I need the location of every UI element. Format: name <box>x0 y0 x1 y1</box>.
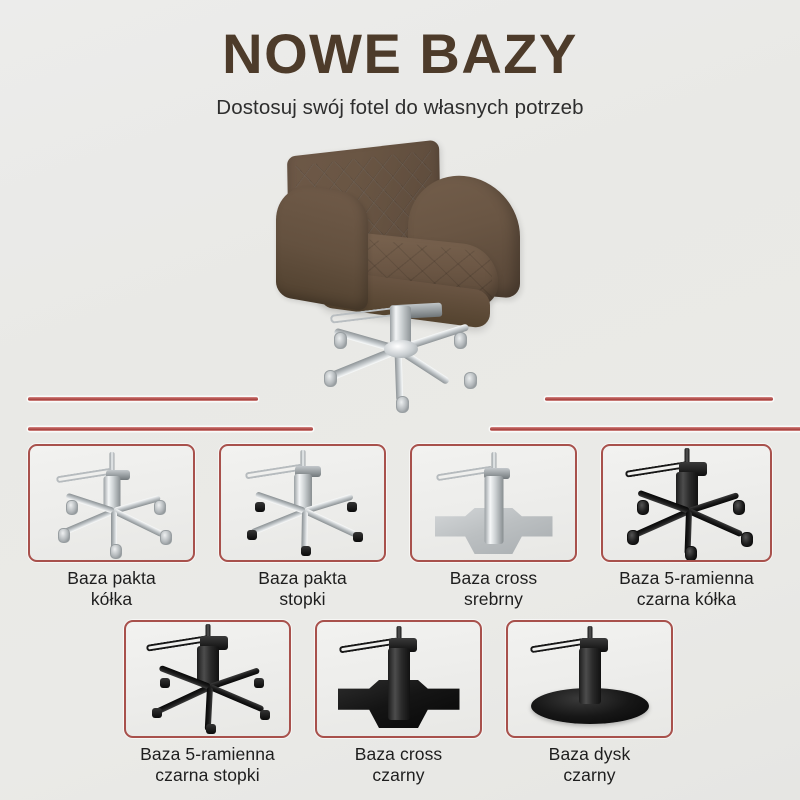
caster-wheel <box>637 500 649 515</box>
caption-line-1: Baza cross <box>392 568 595 589</box>
hero-chair-image <box>0 140 800 440</box>
base-image-black-5star-glides <box>126 622 289 736</box>
caster-wheel <box>110 544 122 559</box>
divider-right-upper <box>545 397 773 401</box>
chair-caster <box>396 396 409 413</box>
caption-line-2: czarna kółka <box>585 589 788 610</box>
base-caption-baza-pakta-kolka: Baza pakta kółka <box>10 568 213 610</box>
divider-right-lower <box>490 427 800 431</box>
base-card-baza-pakta-stopki[interactable] <box>219 444 386 562</box>
base-caption-baza-cross-srebrny: Baza cross srebrny <box>392 568 595 610</box>
caster-wheel <box>733 500 745 515</box>
chair-caster <box>454 332 467 349</box>
caption-line-1: Baza 5-ramienna <box>106 744 309 765</box>
base-card-baza-5-ramienna-czarna-stopki[interactable] <box>124 620 291 738</box>
base-arm <box>304 508 357 537</box>
caption-line-2: srebrny <box>392 589 595 610</box>
caption-line-1: Baza pakta <box>10 568 213 589</box>
floor-glide <box>347 502 357 512</box>
base-card-baza-5-ramienna-czarna-kolka[interactable] <box>601 444 772 562</box>
divider-left-lower <box>28 427 313 431</box>
caption-line-2: kółka <box>10 589 213 610</box>
base-arm <box>250 508 306 535</box>
floor-glide <box>301 546 311 556</box>
base-card-baza-cross-czarny[interactable] <box>315 620 482 738</box>
base-image-black-5star-casters <box>603 446 770 560</box>
floor-glide <box>254 678 264 688</box>
caption-line-2: czarny <box>488 765 691 786</box>
base-caption-baza-5-ramienna-czarna-kolka: Baza 5-ramienna czarna kółka <box>585 568 788 610</box>
base-post <box>388 648 410 720</box>
caption-line-1: Baza 5-ramienna <box>585 568 788 589</box>
divider-left-upper <box>28 397 258 401</box>
base-image-black-cross <box>317 622 480 736</box>
caster-wheel <box>58 528 70 543</box>
caption-line-2: czarna stopki <box>106 765 309 786</box>
caption-line-1: Baza dysk <box>488 744 691 765</box>
caster-wheel <box>160 530 172 545</box>
base-post <box>484 476 503 544</box>
floor-glide <box>152 708 162 718</box>
base-image-chrome-5star-glides <box>221 446 384 560</box>
caster-wheel <box>741 532 753 547</box>
base-card-baza-cross-srebrny[interactable] <box>410 444 577 562</box>
caption-line-2: czarny <box>297 765 500 786</box>
chair-left-armrest <box>276 180 368 312</box>
floor-glide <box>247 530 257 540</box>
base-caption-baza-cross-czarny: Baza cross czarny <box>297 744 500 786</box>
floor-glide <box>160 678 170 688</box>
chair-illustration <box>268 140 538 440</box>
base-card-baza-dysk-czarny[interactable] <box>506 620 673 738</box>
caster-wheel <box>627 530 639 545</box>
caption-line-1: Baza pakta <box>201 568 404 589</box>
floor-glide <box>353 532 363 542</box>
base-image-black-disk <box>508 622 671 736</box>
caster-wheel <box>154 500 166 515</box>
caption-line-2: stopki <box>201 589 404 610</box>
base-caption-baza-pakta-stopki: Baza pakta stopki <box>201 568 404 610</box>
caption-line-1: Baza cross <box>297 744 500 765</box>
floor-glide <box>255 502 265 512</box>
caster-wheel <box>66 500 78 515</box>
base-arm <box>209 684 265 712</box>
base-image-silver-cross <box>412 446 575 560</box>
chair-base-hub <box>384 340 418 358</box>
caster-wheel <box>685 546 697 561</box>
floor-glide <box>206 724 216 734</box>
page-subtitle: Dostosuj swój fotel do własnych potrzeb <box>0 96 800 120</box>
base-card-baza-pakta-kolka[interactable] <box>28 444 195 562</box>
chair-caster <box>334 332 347 349</box>
chair-caster <box>324 370 337 387</box>
page-title: NOWE BAZY <box>0 26 800 82</box>
base-caption-baza-dysk-czarny: Baza dysk czarny <box>488 744 691 786</box>
floor-glide <box>260 710 270 720</box>
chair-caster <box>464 372 477 389</box>
base-post <box>579 648 601 704</box>
base-image-chrome-5star-casters <box>30 446 193 560</box>
page-header: NOWE BAZY Dostosuj swój fotel do własnyc… <box>0 0 800 120</box>
base-caption-baza-5-ramienna-czarna-stopki: Baza 5-ramienna czarna stopki <box>106 744 309 786</box>
base-arm <box>154 684 211 715</box>
